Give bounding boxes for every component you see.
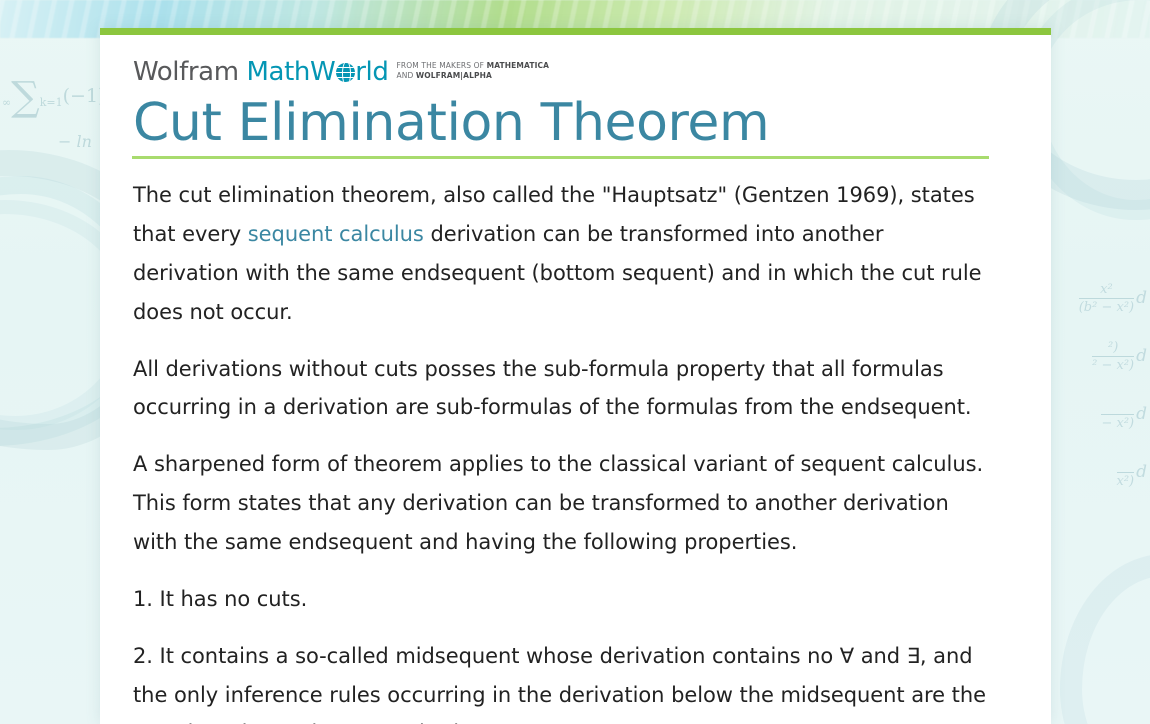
decorative-swirl-right-3 [1060,554,1150,724]
list-item-1: 1. It has no cuts. [131,580,989,619]
background-formula-integral-3: − x²) d x [1099,398,1150,431]
fraction: x²) [1117,456,1135,489]
logo-mathworld-text: MathWrld [247,57,389,87]
title-divider [132,156,989,159]
summation-lower-limit: k=1 [40,97,63,109]
article-card: Wolfram MathWrld FROM THE MAKERS OF MATH… [100,28,1051,724]
background-formula-log: − ln [58,132,92,151]
background-formula-integral-4: x²) d x [1115,456,1150,489]
background-formula-integral-2: ²) ² − x²) d x [1090,340,1150,373]
list-item-2: 2. It contains a so-called midsequent wh… [131,637,989,724]
logo-world-w: W [310,57,335,87]
logo-wolfram-text: Wolfram [133,57,239,87]
paragraph-2: All derivations without cuts posses the … [131,350,989,428]
logo-world-rest: rld [355,57,388,87]
page-title: Cut Elimination Theorem [131,94,989,152]
globe-icon [336,63,355,82]
fraction: ²) ² − x²) [1092,340,1134,373]
tagline-line-1: FROM THE MAKERS OF MATHEMATICA [396,61,549,72]
fraction: − x²) [1101,398,1134,431]
tagline-line-2: AND WOLFRAM|ALPHA [396,71,549,82]
logo-tagline: FROM THE MAKERS OF MATHEMATICA AND WOLFR… [396,61,549,85]
logo-wordmark: Wolfram MathWrld [133,59,388,85]
paragraph-3: A sharpened form of theorem applies to t… [131,445,989,562]
article-body: The cut elimination theorem, also called… [131,176,989,724]
paragraph-1: The cut elimination theorem, also called… [131,176,989,331]
summation-limits: ∞ [2,97,11,109]
link-sequent-calculus[interactable]: sequent calculus [248,222,424,246]
fraction: x² (b² − x²) [1079,282,1134,315]
background-formula-integral-1: x² (b² − x²) d x [1077,282,1150,315]
summation-sigma-icon: ∑ [11,74,40,120]
site-logo[interactable]: Wolfram MathWrld FROM THE MAKERS OF MATH… [131,59,989,85]
